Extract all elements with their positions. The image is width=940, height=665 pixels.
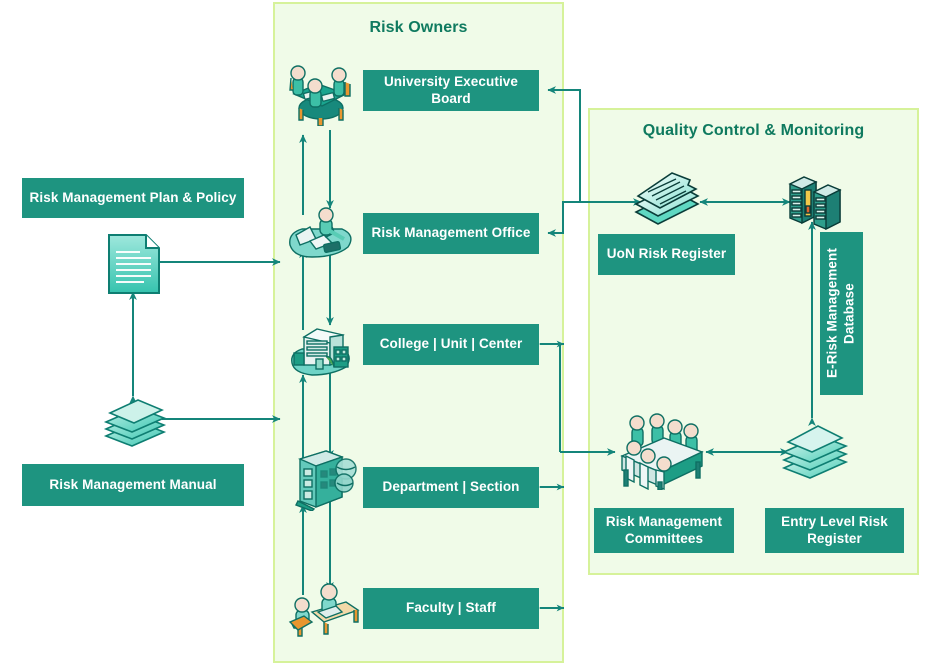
- department-section-box[interactable]: Department | Section: [363, 467, 539, 508]
- committee-table-icon: [612, 408, 708, 490]
- document-stack-icon: [100, 392, 170, 448]
- entry-level-risk-register-box[interactable]: Entry Level Risk Register: [765, 508, 904, 553]
- campus-building-icon: [288, 313, 356, 379]
- boardroom-meeting-icon: [288, 56, 354, 126]
- uon-risk-register-box[interactable]: UoN Risk Register: [598, 234, 735, 275]
- document-page-icon: [106, 232, 162, 296]
- faculty-staff-box[interactable]: Faculty | Staff: [363, 588, 539, 629]
- e-risk-management-database-box[interactable]: E-Risk Management Database: [820, 232, 863, 395]
- risk-management-office-box[interactable]: Risk Management Office: [363, 213, 539, 254]
- risk-management-manual-box[interactable]: Risk Management Manual: [22, 464, 244, 506]
- quality-control-panel-title: Quality Control & Monitoring: [588, 122, 919, 140]
- risk-management-framework-diagram: Risk Owners Quality Control & Monitoring…: [0, 0, 940, 665]
- paper-stack-icon: [632, 168, 704, 230]
- server-racks-icon: [786, 172, 844, 230]
- risk-management-committees-box[interactable]: Risk Management Committees: [594, 508, 734, 553]
- college-unit-center-box[interactable]: College | Unit | Center: [363, 324, 539, 365]
- risk-management-plan-policy-box[interactable]: Risk Management Plan & Policy: [22, 178, 244, 218]
- office-building-icon: [292, 447, 360, 511]
- two-people-desk-icon: [288, 576, 360, 638]
- person-at-desk-icon: [286, 205, 358, 263]
- register-stack-icon: [780, 420, 850, 482]
- risk-owners-panel-title: Risk Owners: [273, 19, 564, 37]
- university-executive-board-box[interactable]: University Executive Board: [363, 70, 539, 111]
